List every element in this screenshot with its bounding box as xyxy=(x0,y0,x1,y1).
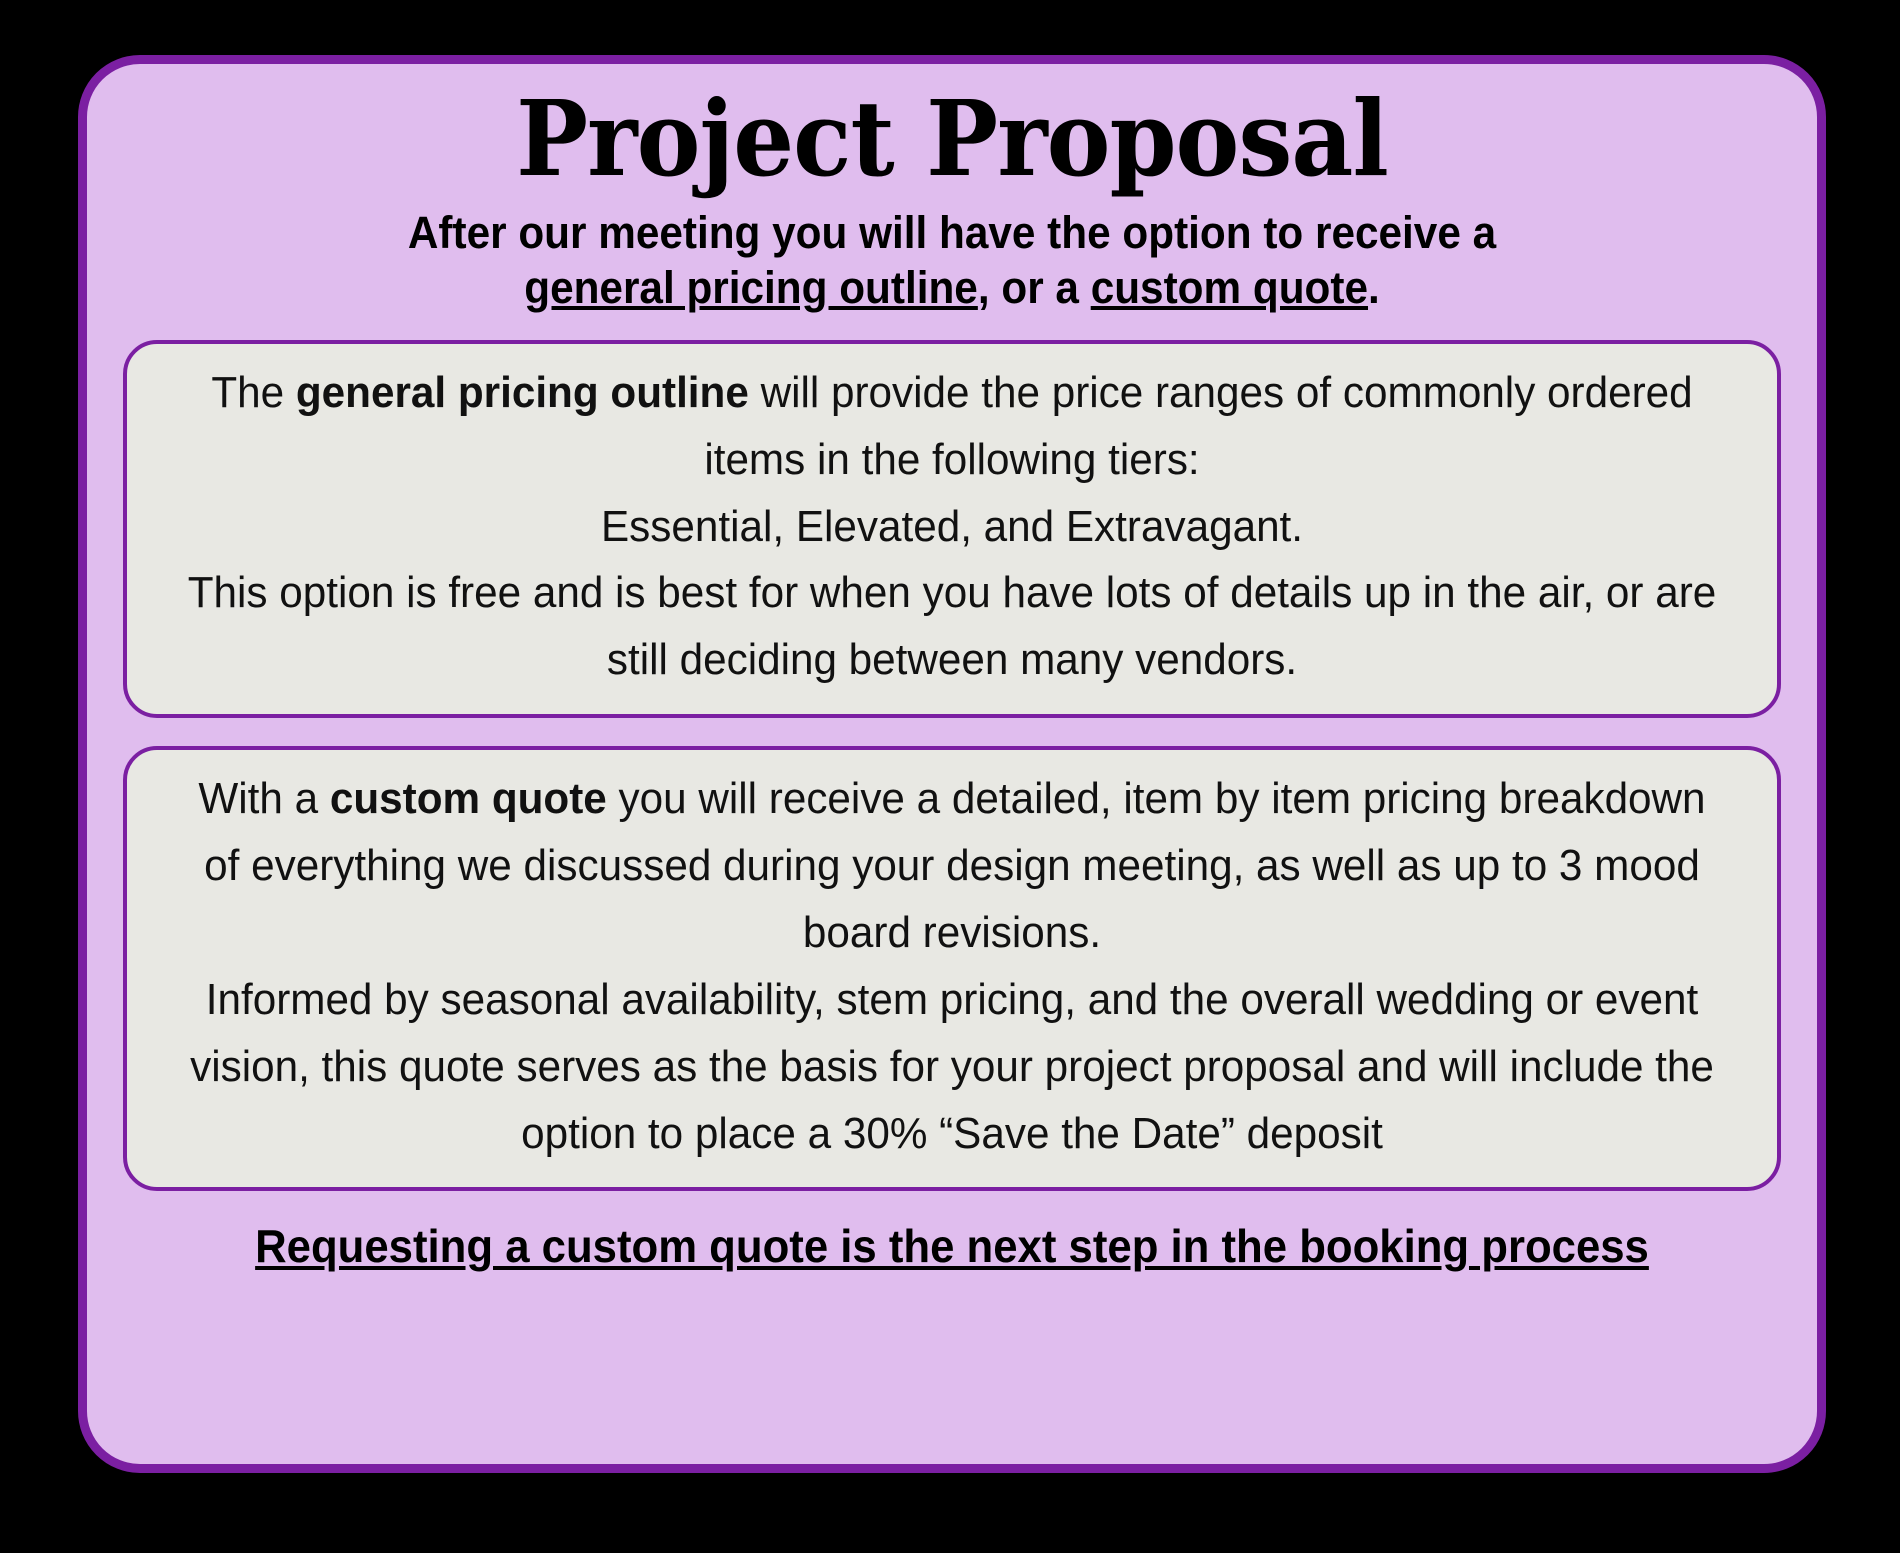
panel-1-line-1: The general pricing outline will provide… xyxy=(185,360,1719,494)
subtitle-line-1: After our meeting you will have the opti… xyxy=(408,207,1496,258)
custom-quote-panel: With a custom quote you will receive a d… xyxy=(123,746,1781,1191)
panel-2-line-1-bold: custom quote xyxy=(330,774,607,823)
panel-1-line-3: This option is free and is best for when… xyxy=(185,560,1719,694)
panel-2-line-1-pre: With a xyxy=(198,774,329,823)
subtitle-line-2-post: . xyxy=(1368,262,1380,313)
subtitle-line-2-mid: , or a xyxy=(978,262,1091,313)
panel-1-line-1-bold: general pricing outline xyxy=(296,368,749,417)
subtitle-emphasis-custom-quote: custom quote xyxy=(1091,262,1368,313)
screenshot-stage: Project Proposal After our meeting you w… xyxy=(0,0,1900,1553)
footer-note: Requesting a custom quote is the next st… xyxy=(157,1219,1747,1274)
panel-1-line-2: Essential, Elevated, and Extravagant. xyxy=(185,494,1719,561)
panel-2-line-2: Informed by seasonal availability, stem … xyxy=(185,967,1719,1168)
subtitle: After our meeting you will have the opti… xyxy=(165,206,1739,316)
panel-1-line-1-pre: The xyxy=(211,368,296,417)
panel-1-line-1-post: will provide the price ranges of commonl… xyxy=(704,368,1692,484)
general-pricing-outline-panel: The general pricing outline will provide… xyxy=(123,340,1781,718)
page-title: Project Proposal xyxy=(182,86,1722,192)
panel-2-line-1: With a custom quote you will receive a d… xyxy=(185,766,1719,967)
subtitle-emphasis-general-pricing-outline: general pricing outline xyxy=(524,262,978,313)
project-proposal-card: Project Proposal After our meeting you w… xyxy=(78,55,1826,1473)
